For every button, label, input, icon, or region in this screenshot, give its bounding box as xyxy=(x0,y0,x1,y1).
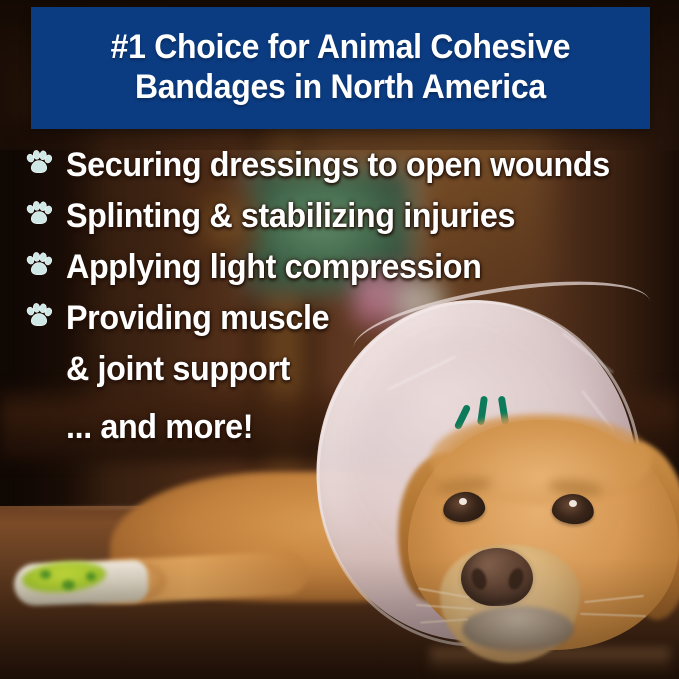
list-item-label: Splinting & stabilizing injuries xyxy=(66,194,515,239)
floor-sheen xyxy=(0,506,679,679)
headline-text: #1 Choice for Animal Cohesive Bandages i… xyxy=(101,28,579,108)
list-item: Securing dressings to open wounds xyxy=(26,143,666,194)
and-more-label: ... and more! xyxy=(66,405,253,450)
list-item: Applying light compression xyxy=(26,245,666,296)
paw-print-icon xyxy=(26,201,52,225)
list-item: Providing muscle xyxy=(26,296,666,347)
dog-eye-glint xyxy=(459,498,467,505)
headline-line-2: Bandages in North America xyxy=(135,68,546,106)
list-item-label: Providing muscle xyxy=(66,296,329,341)
paw-print-icon xyxy=(26,252,52,276)
list-item-continuation: & joint support xyxy=(66,347,636,392)
list-item: Splinting & stabilizing injuries xyxy=(26,194,666,245)
headline-banner: #1 Choice for Animal Cohesive Bandages i… xyxy=(31,7,650,129)
list-item-label: Applying light compression xyxy=(66,245,481,290)
paw-print-icon xyxy=(26,150,52,174)
headline-line-1: #1 Choice for Animal Cohesive xyxy=(111,28,571,66)
benefits-list: Securing dressings to open wounds Splint… xyxy=(26,143,666,392)
paw-print-icon xyxy=(26,303,52,327)
product-feature-poster: #1 Choice for Animal Cohesive Bandages i… xyxy=(0,0,679,679)
list-item-label: Securing dressings to open wounds xyxy=(66,143,610,188)
